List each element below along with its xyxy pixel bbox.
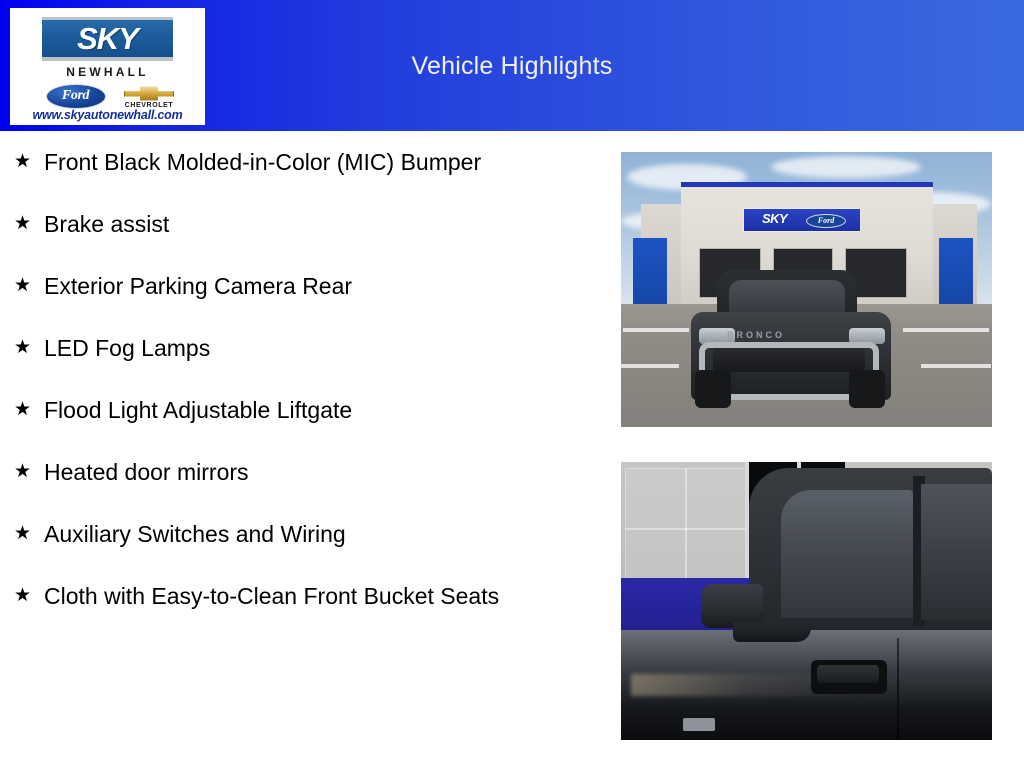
blue-pillar [633, 238, 667, 304]
wheel-left [695, 370, 731, 408]
feature-label: LED Fog Lamps [44, 331, 564, 365]
list-item: ★ Auxiliary Switches and Wiring [0, 517, 600, 551]
list-item: ★ Front Black Molded-in-Color (MIC) Bump… [0, 145, 600, 179]
vehicle-photo-mirror-detail[interactable] [621, 462, 992, 740]
feature-label: Front Black Molded-in-Color (MIC) Bumper [44, 145, 564, 179]
feature-label: Auxiliary Switches and Wiring [44, 517, 564, 551]
sign-ford-logo: Ford [806, 214, 846, 228]
feature-label: Cloth with Easy-to-Clean Front Bucket Se… [44, 579, 564, 613]
hood-badge-text: BRONCO [727, 330, 837, 342]
vehicle-windshield [729, 280, 845, 314]
parking-stripe [623, 328, 689, 332]
vehicle-photo-front[interactable]: SKY Ford BRONCO [621, 152, 992, 427]
sign-sky-text: SKY [762, 211, 787, 226]
list-item: ★ LED Fog Lamps [0, 331, 600, 365]
star-icon: ★ [14, 579, 44, 613]
cloud-shape [771, 156, 921, 178]
door-seam [897, 638, 899, 740]
list-item: ★ Flood Light Adjustable Liftgate [0, 393, 600, 427]
blue-pillar [939, 238, 973, 304]
ford-logo-icon: Ford [46, 84, 106, 109]
wall-panel [625, 468, 687, 530]
feature-label: Exterior Parking Camera Rear [44, 269, 564, 303]
star-icon: ★ [14, 331, 44, 365]
rear-door-glass [921, 484, 992, 620]
feature-label: Brake assist [44, 207, 564, 241]
star-icon: ★ [14, 455, 44, 489]
star-icon: ★ [14, 145, 44, 179]
dealer-logo: SKY NEWHALL Ford CHEVROLET www.skyautone… [10, 8, 205, 125]
list-item: ★ Heated door mirrors [0, 455, 600, 489]
page-header: Vehicle Highlights SKY NEWHALL Ford CHEV… [0, 0, 1024, 131]
dealer-website-text: www.skyautonewhall.com [10, 108, 205, 122]
sky-brand-text: SKY [42, 20, 173, 57]
feature-label: Heated door mirrors [44, 455, 564, 489]
list-item: ★ Cloth with Easy-to-Clean Front Bucket … [0, 579, 600, 613]
body-side-plate [683, 718, 715, 731]
star-icon: ★ [14, 393, 44, 427]
parking-stripe [921, 364, 991, 368]
sky-brand-block: SKY [42, 17, 173, 61]
list-item: ★ Exterior Parking Camera Rear [0, 269, 600, 303]
side-mirror-arm [733, 622, 811, 642]
list-item: ★ Brake assist [0, 207, 600, 241]
star-icon: ★ [14, 517, 44, 551]
parking-stripe [621, 364, 679, 368]
chevrolet-bowtie-icon [124, 86, 174, 101]
dealer-location-text: NEWHALL [42, 65, 173, 79]
star-icon: ★ [14, 207, 44, 241]
front-door-glass [781, 490, 913, 618]
feature-label: Flood Light Adjustable Liftgate [44, 393, 564, 427]
dealership-sign: SKY Ford [743, 208, 861, 232]
dealer-logo-inner: SKY NEWHALL Ford CHEVROLET www.skyautone… [10, 8, 205, 125]
vehicle-highlights-list: ★ Front Black Molded-in-Color (MIC) Bump… [0, 145, 600, 641]
ford-logo-text: Ford [47, 85, 104, 107]
star-icon: ★ [14, 269, 44, 303]
door-handle [817, 665, 879, 683]
parking-stripe [903, 328, 989, 332]
wheel-right [849, 370, 885, 408]
wall-panel [685, 468, 747, 530]
